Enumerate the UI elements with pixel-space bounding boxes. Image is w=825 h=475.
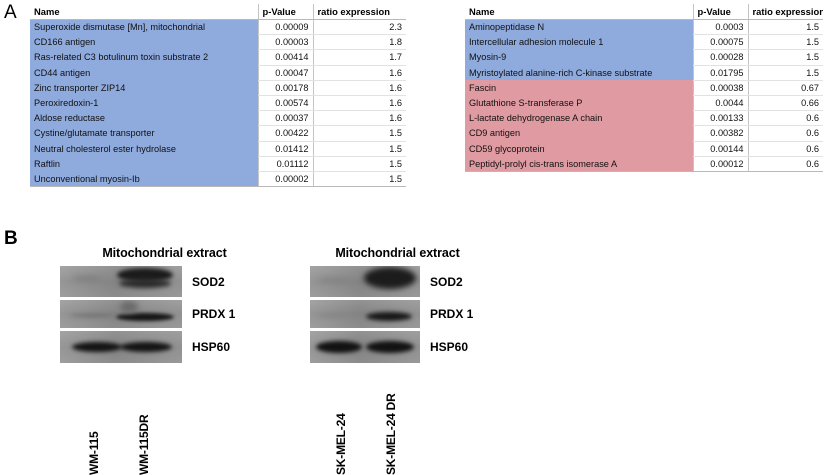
band-lane2 bbox=[366, 312, 412, 321]
cell-p-value: 0.0044 bbox=[693, 96, 748, 111]
panel-a-letter: A bbox=[4, 2, 17, 24]
cell-p-value: 0.00422 bbox=[258, 126, 313, 141]
band-lane2-arc bbox=[119, 279, 171, 288]
cell-p-value: 0.00009 bbox=[258, 20, 313, 35]
blot-stack: SOD2 PRDX 1 HSP60 bbox=[310, 266, 485, 363]
cell-p-value: 0.0003 bbox=[693, 20, 748, 35]
blot-label-sod2: SOD2 bbox=[192, 275, 225, 289]
blot-label-sod2: SOD2 bbox=[430, 275, 463, 289]
table-header-row: Name p-Value ratio expression bbox=[465, 4, 823, 20]
band-lane2 bbox=[120, 342, 172, 352]
table-row: Zinc transporter ZIP140.001781.6 bbox=[30, 80, 406, 95]
blot-row-prdx1: PRDX 1 bbox=[310, 300, 485, 328]
cell-ratio-expression: 0.6 bbox=[748, 126, 823, 141]
band-lane2 bbox=[364, 267, 416, 289]
cell-protein-name: CD44 antigen bbox=[30, 65, 258, 80]
cell-ratio-expression: 0.6 bbox=[748, 111, 823, 126]
western-blot-skmel24: Mitochondrial extract SOD2 PRDX 1 bbox=[310, 246, 485, 366]
western-blot-wm115: Mitochondrial extract SOD2 PRDX 1 bbox=[60, 246, 257, 366]
cell-protein-name: Peptidyl-prolyl cis-trans isomerase A bbox=[465, 156, 693, 171]
table-row: Neutral cholesterol ester hydrolase0.014… bbox=[30, 141, 406, 156]
table-row: Unconventional myosin-Ib0.000021.5 bbox=[30, 172, 406, 187]
cell-ratio-expression: 1.6 bbox=[313, 96, 406, 111]
cell-p-value: 0.00003 bbox=[258, 35, 313, 50]
cell-ratio-expression: 1.5 bbox=[313, 172, 406, 187]
proteomics-table-skmel24: Name p-Value ratio expression Aminopepti… bbox=[465, 4, 823, 172]
cell-p-value: 0.00012 bbox=[693, 156, 748, 171]
table-row: CD9 antigen0.003820.6 bbox=[465, 126, 823, 141]
panel-b-letter: B bbox=[4, 228, 18, 250]
blot-image-hsp60 bbox=[310, 331, 420, 363]
table-row: Peptidyl-prolyl cis-trans isomerase A0.0… bbox=[465, 156, 823, 171]
cell-protein-name: CD59 glycoprotein bbox=[465, 141, 693, 156]
cell-ratio-expression: 1.5 bbox=[313, 126, 406, 141]
cell-protein-name: Unconventional myosin-Ib bbox=[30, 172, 258, 187]
cell-protein-name: Myosin-9 bbox=[465, 50, 693, 65]
cell-ratio-expression: 1.5 bbox=[313, 141, 406, 156]
cell-ratio-expression: 1.5 bbox=[313, 156, 406, 171]
blot-image-hsp60 bbox=[60, 331, 182, 363]
table-row: CD44 antigen0.000471.6 bbox=[30, 65, 406, 80]
blot-image-sod2 bbox=[60, 266, 182, 297]
table-row: Cystine/glutamate transporter0.004221.5 bbox=[30, 126, 406, 141]
cell-protein-name: L-lactate dehydrogenase A chain bbox=[465, 111, 693, 126]
band-lane1-faint bbox=[318, 278, 352, 283]
cell-protein-name: Raftlin bbox=[30, 156, 258, 171]
cell-p-value: 0.01112 bbox=[258, 156, 313, 171]
table-row: Peroxiredoxin-10.005741.6 bbox=[30, 96, 406, 111]
blot-row-hsp60: HSP60 bbox=[60, 331, 257, 363]
cell-protein-name: CD166 antigen bbox=[30, 35, 258, 50]
cell-p-value: 0.00028 bbox=[693, 50, 748, 65]
table-row: Glutathione S-transferase P0.00440.66 bbox=[465, 96, 823, 111]
cell-p-value: 0.00382 bbox=[693, 126, 748, 141]
band-lane2 bbox=[116, 313, 174, 321]
cell-ratio-expression: 1.8 bbox=[313, 35, 406, 50]
blot-label-prdx1: PRDX 1 bbox=[192, 307, 235, 321]
cell-p-value: 0.01412 bbox=[258, 141, 313, 156]
blot-stack: SOD2 PRDX 1 HSP60 bbox=[60, 266, 257, 363]
cell-protein-name: Ras-related C3 botulinum toxin substrate… bbox=[30, 50, 258, 65]
table-row: L-lactate dehydrogenase A chain0.001330.… bbox=[465, 111, 823, 126]
lane-label-skmel24: SK-MEL-24 bbox=[334, 413, 348, 475]
lane-label-wm115dr: WM-115DR bbox=[137, 415, 151, 475]
column-header-name: Name bbox=[30, 4, 258, 20]
cell-ratio-expression: 0.6 bbox=[748, 141, 823, 156]
cell-ratio-expression: 2.3 bbox=[313, 20, 406, 35]
table-row: Superoxide dismutase [Mn], mitochondrial… bbox=[30, 20, 406, 35]
column-header-ratio: ratio expression bbox=[313, 4, 406, 20]
lane-label-wm115: WM-115 bbox=[87, 432, 101, 475]
band-lane1-faint bbox=[72, 276, 102, 281]
cell-p-value: 0.00047 bbox=[258, 65, 313, 80]
band-lane1 bbox=[72, 342, 122, 352]
cell-protein-name: Glutathione S-transferase P bbox=[465, 96, 693, 111]
table-row: Myosin-90.000281.5 bbox=[465, 50, 823, 65]
cell-p-value: 0.00178 bbox=[258, 80, 313, 95]
band-lane2 bbox=[366, 341, 414, 353]
table-row: Ras-related C3 botulinum toxin substrate… bbox=[30, 50, 406, 65]
cell-protein-name: Myristoylated alanine-rich C-kinase subs… bbox=[465, 65, 693, 80]
lane-label-skmel24dr: SK-MEL-24 DR bbox=[384, 393, 398, 475]
table-row: Aminopeptidase N0.00031.5 bbox=[465, 20, 823, 35]
cell-protein-name: Superoxide dismutase [Mn], mitochondrial bbox=[30, 20, 258, 35]
cell-ratio-expression: 1.5 bbox=[748, 65, 823, 80]
table-header-row: Name p-Value ratio expression bbox=[30, 4, 406, 20]
column-header-ratio: ratio expression bbox=[748, 4, 823, 20]
cell-ratio-expression: 1.7 bbox=[313, 50, 406, 65]
blot-row-hsp60: HSP60 bbox=[310, 331, 485, 363]
cell-protein-name: Peroxiredoxin-1 bbox=[30, 96, 258, 111]
cell-ratio-expression: 1.6 bbox=[313, 65, 406, 80]
cell-p-value: 0.00414 bbox=[258, 50, 313, 65]
cell-p-value: 0.00038 bbox=[693, 80, 748, 95]
cell-p-value: 0.00037 bbox=[258, 111, 313, 126]
blot-row-sod2: SOD2 bbox=[60, 266, 257, 297]
cell-ratio-expression: 0.66 bbox=[748, 96, 823, 111]
blot-title: Mitochondrial extract bbox=[60, 246, 257, 260]
cell-p-value: 0.00574 bbox=[258, 96, 313, 111]
cell-p-value: 0.01795 bbox=[693, 65, 748, 80]
band-lane1-faint bbox=[70, 314, 114, 317]
band-lane1 bbox=[316, 341, 362, 353]
cell-p-value: 0.00144 bbox=[693, 141, 748, 156]
cell-protein-name: Aldose reductase bbox=[30, 111, 258, 126]
table-body: Aminopeptidase N0.00031.5Intercellular a… bbox=[465, 20, 823, 172]
table-row: Aldose reductase0.000371.6 bbox=[30, 111, 406, 126]
table-row: Intercellular adhesion molecule 10.00075… bbox=[465, 35, 823, 50]
cell-protein-name: Neutral cholesterol ester hydrolase bbox=[30, 141, 258, 156]
cell-ratio-expression: 1.5 bbox=[748, 20, 823, 35]
cell-ratio-expression: 1.5 bbox=[748, 35, 823, 50]
cell-protein-name: Fascin bbox=[465, 80, 693, 95]
smear-lane2-top bbox=[120, 301, 138, 313]
cell-ratio-expression: 1.5 bbox=[748, 50, 823, 65]
band-lane1-faint bbox=[318, 314, 350, 317]
cell-p-value: 0.00133 bbox=[693, 111, 748, 126]
cell-protein-name: Aminopeptidase N bbox=[465, 20, 693, 35]
blot-label-prdx1: PRDX 1 bbox=[430, 307, 473, 321]
blot-image-prdx1 bbox=[310, 300, 420, 328]
column-header-name: Name bbox=[465, 4, 693, 20]
column-header-pvalue: p-Value bbox=[693, 4, 748, 20]
table-row: CD166 antigen0.000031.8 bbox=[30, 35, 406, 50]
blot-label-hsp60: HSP60 bbox=[192, 340, 230, 354]
table-row: Fascin0.000380.67 bbox=[465, 80, 823, 95]
cell-ratio-expression: 1.6 bbox=[313, 111, 406, 126]
cell-p-value: 0.00002 bbox=[258, 172, 313, 187]
column-header-pvalue: p-Value bbox=[258, 4, 313, 20]
blot-title: Mitochondrial extract bbox=[310, 246, 485, 260]
blot-image-prdx1 bbox=[60, 300, 182, 328]
cell-p-value: 0.00075 bbox=[693, 35, 748, 50]
cell-ratio-expression: 0.6 bbox=[748, 156, 823, 171]
blot-row-prdx1: PRDX 1 bbox=[60, 300, 257, 328]
cell-ratio-expression: 1.6 bbox=[313, 80, 406, 95]
proteomics-table-wm115: Name p-Value ratio expression Superoxide… bbox=[30, 4, 406, 187]
cell-ratio-expression: 0.67 bbox=[748, 80, 823, 95]
blot-image-sod2 bbox=[310, 266, 420, 297]
table-row: CD59 glycoprotein0.001440.6 bbox=[465, 141, 823, 156]
table-row: Raftlin0.011121.5 bbox=[30, 156, 406, 171]
cell-protein-name: Cystine/glutamate transporter bbox=[30, 126, 258, 141]
cell-protein-name: Intercellular adhesion molecule 1 bbox=[465, 35, 693, 50]
blot-label-hsp60: HSP60 bbox=[430, 340, 468, 354]
table-body: Superoxide dismutase [Mn], mitochondrial… bbox=[30, 20, 406, 187]
cell-protein-name: Zinc transporter ZIP14 bbox=[30, 80, 258, 95]
cell-protein-name: CD9 antigen bbox=[465, 126, 693, 141]
blot-row-sod2: SOD2 bbox=[310, 266, 485, 297]
table-row: Myristoylated alanine-rich C-kinase subs… bbox=[465, 65, 823, 80]
